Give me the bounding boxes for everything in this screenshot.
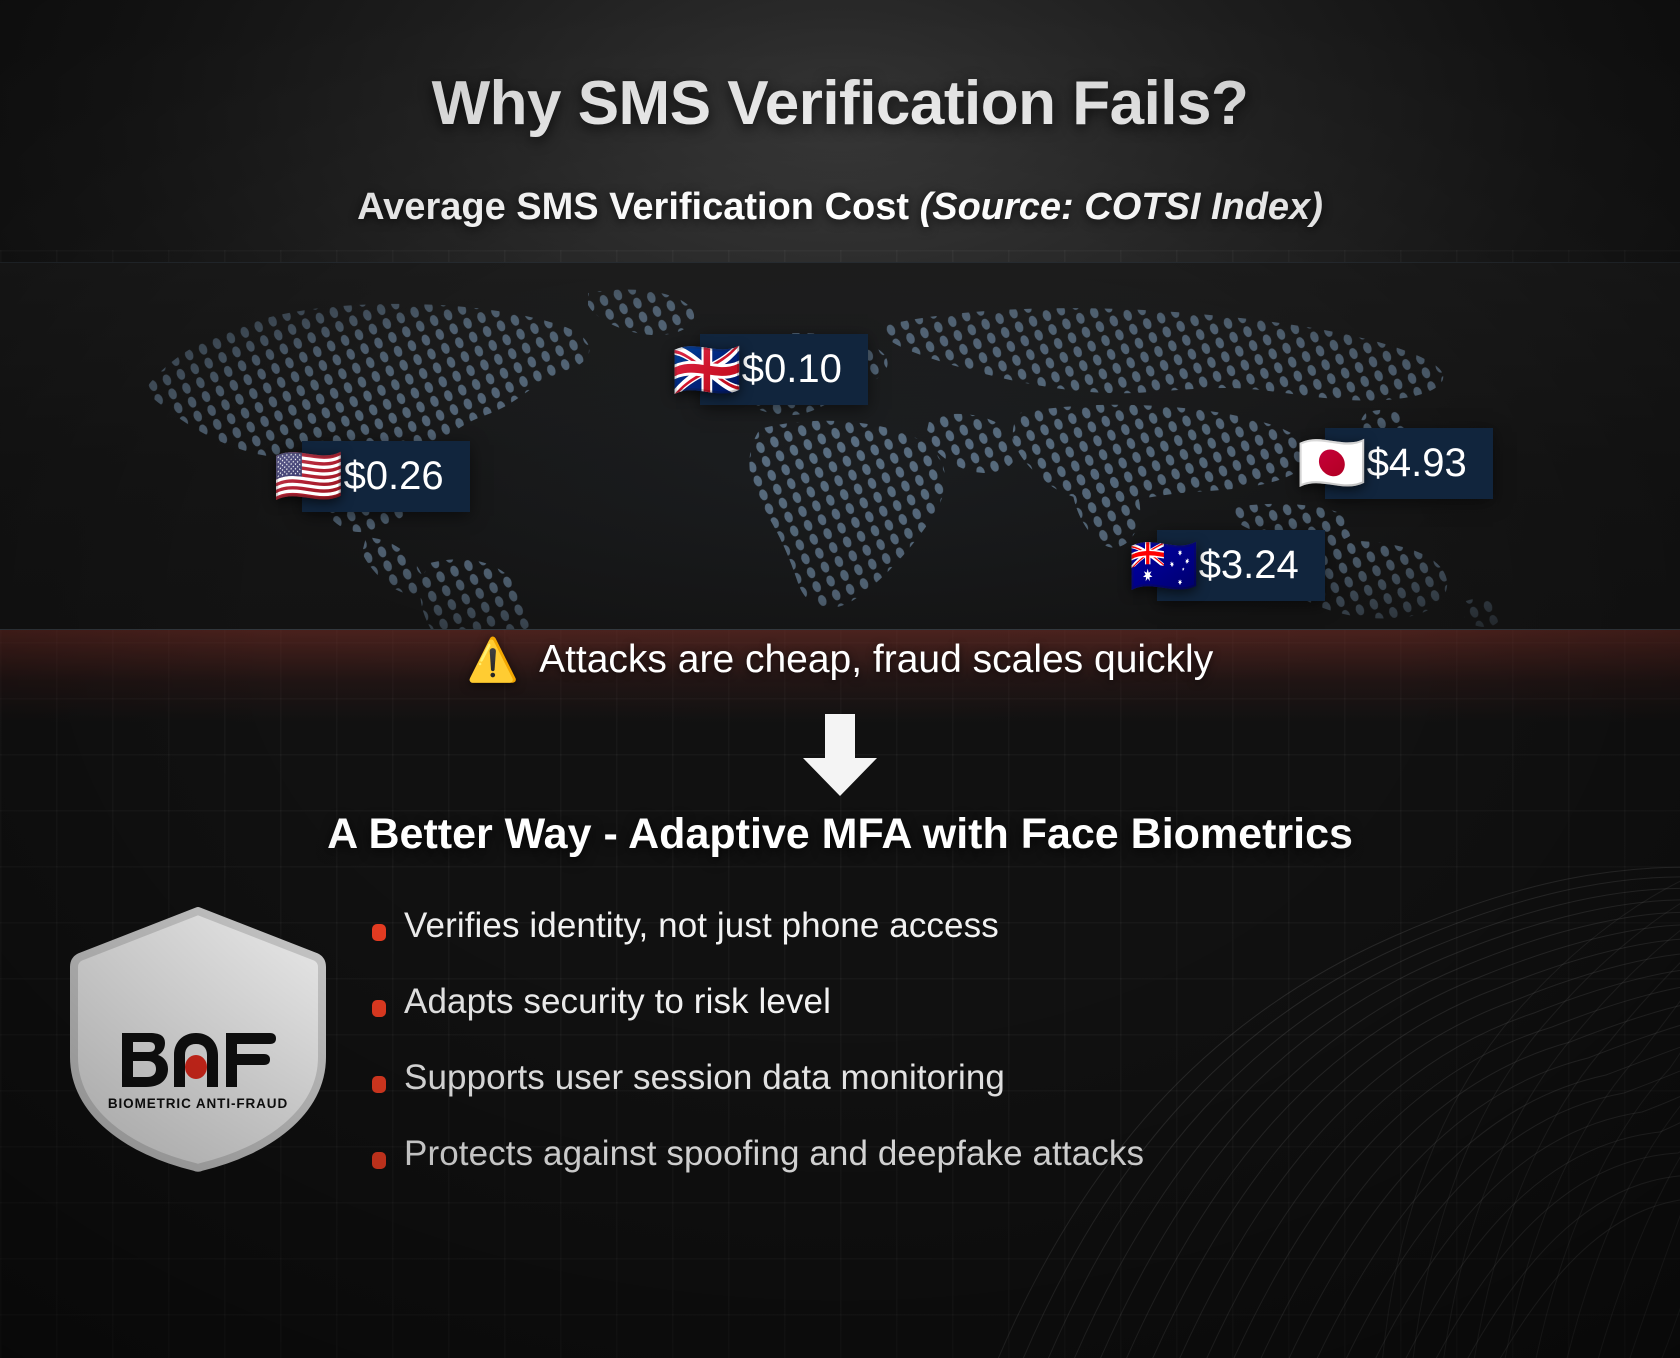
bullet-dot-icon <box>372 924 386 941</box>
infographic-canvas: Why SMS Verification Fails? Average SMS … <box>0 0 1680 1358</box>
bullet-dot-icon <box>372 1152 386 1169</box>
logo-tagline: BIOMETRIC ANTI-FRAUD <box>108 1096 288 1111</box>
baf-shield-logo: BIOMETRIC ANTI-FRAUD <box>68 907 328 1172</box>
warning-row: ⚠️ Attacks are cheap, fraud scales quick… <box>0 625 1680 695</box>
chart-subtitle-main: Average SMS Verification Cost <box>357 186 919 228</box>
cost-marker-united-states[interactable]: 🇺🇸 $0.26 <box>274 441 470 512</box>
benefit-text: Protects against spoofing and deepfake a… <box>404 1136 1144 1173</box>
cost-marker-uk[interactable]: 🇬🇧 $0.10 <box>672 334 868 405</box>
benefit-text: Verifies identity, not just phone access <box>404 908 999 945</box>
bullet-dot-icon <box>372 1000 386 1017</box>
solution-heading: A Better Way - Adaptive MFA with Face Bi… <box>0 810 1680 859</box>
cost-marker-australia[interactable]: 🇦🇺 $3.24 <box>1129 530 1325 601</box>
flag-united-kingdom-icon: 🇬🇧 <box>672 342 742 398</box>
down-arrow-icon <box>799 712 881 798</box>
world-map-panel: 🇬🇧 $0.10 🇺🇸 $0.26 🇯🇵 $4.93 🇦🇺 $3.24 <box>0 262 1680 630</box>
page-title: Why SMS Verification Fails? <box>0 68 1680 139</box>
benefit-text: Adapts security to risk level <box>404 984 831 1021</box>
chart-subtitle-source: (Source: COTSI Index) <box>920 186 1323 228</box>
benefit-text: Supports user session data monitoring <box>404 1060 1005 1097</box>
list-item: Adapts security to risk level <box>372 984 1372 1060</box>
list-item: Protects against spoofing and deepfake a… <box>372 1136 1372 1212</box>
flag-australia-icon: 🇦🇺 <box>1129 538 1199 594</box>
list-item: Verifies identity, not just phone access <box>372 908 1372 984</box>
list-item: Supports user session data monitoring <box>372 1060 1372 1136</box>
warning-triangle-icon: ⚠️ <box>467 639 519 681</box>
bullet-dot-icon <box>372 1076 386 1093</box>
benefits-list: Verifies identity, not just phone access… <box>372 908 1372 1212</box>
flag-united-states-icon: 🇺🇸 <box>274 448 344 504</box>
flag-japan-icon: 🇯🇵 <box>1297 435 1367 491</box>
chart-subtitle: Average SMS Verification Cost (Source: C… <box>0 186 1680 229</box>
cost-marker-japan[interactable]: 🇯🇵 $4.93 <box>1297 428 1493 499</box>
warning-text: Attacks are cheap, fraud scales quickly <box>539 638 1213 682</box>
